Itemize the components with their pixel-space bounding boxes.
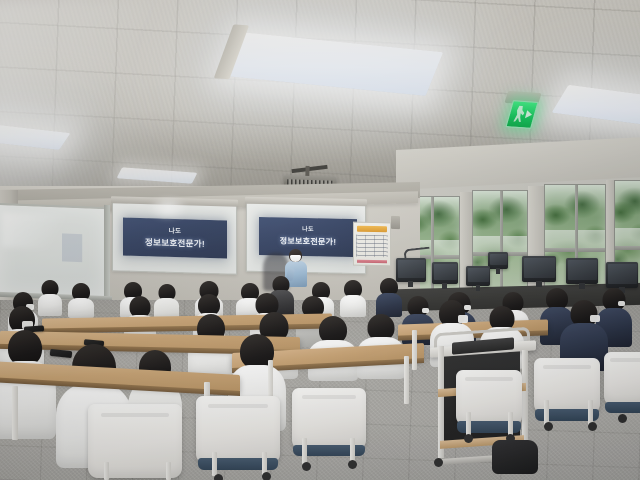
screen-roller-case [245,197,367,207]
monitor-stand [579,283,585,289]
computer-monitor [566,258,598,284]
whiteboard-writing [62,233,96,262]
caster-wheel [302,462,311,471]
caster-wheel [544,422,553,431]
face-mask-icon [458,315,468,323]
window-mullion [615,246,640,250]
backpack [492,440,538,474]
presentation-slide: 나도 정보보호전문가! [259,217,357,257]
computer-monitor [466,266,490,286]
chair-leg [302,438,307,464]
caster-wheel [262,472,271,480]
computer-monitor [432,262,458,284]
caster-wheel [214,474,223,480]
face-mask-icon [618,301,625,306]
table-leg [12,386,18,440]
presentation-slide: 나도 정보보호전문가! [123,218,227,259]
table-leg [404,356,409,404]
computer-monitor [606,262,638,288]
table-leg [412,330,417,370]
chair-back-slot [101,413,169,417]
caster-wheel [618,414,627,423]
wall-poster [353,222,391,267]
slide-line-1: 나도 [169,227,182,235]
caster-wheel [588,422,597,431]
monitor-stand [496,268,500,274]
projector-beam-highlight [148,196,188,220]
poster-table-rows [356,235,388,258]
poster-footer-band [357,260,387,264]
computer-monitor [488,252,508,269]
window-mullion [500,191,503,293]
monitor-stand [476,285,480,291]
chair-leg [104,462,109,480]
chair-leg [212,452,217,476]
window-frosted-band [615,228,640,246]
caster-wheel [434,458,443,467]
chair-back-slot [543,365,591,369]
face-mask-icon [590,315,600,322]
slide-line-2: 정보보호전문가! [280,236,337,247]
caster-wheel [464,434,473,443]
student [340,280,366,316]
chair-back-slot [302,395,355,399]
student-shirt [154,298,179,318]
student-shirt [68,298,94,318]
classroom-chair [196,396,280,464]
student [376,278,402,316]
chair-leg [166,462,171,480]
poster-header-banner [357,226,387,233]
whiteboard-frame [104,205,110,297]
chair-back-slot [208,404,269,408]
computer-monitor [522,256,556,282]
monitor-stand [442,283,447,289]
wall-speaker [391,216,400,229]
chair-seat [605,402,640,413]
classroom-chair [604,352,640,406]
slide-line-2: 정보보호전문가! [145,237,205,249]
caster-wheel [348,460,357,469]
monitor-stand [536,281,542,287]
student [154,284,179,316]
student [68,283,94,316]
chair-back-slot [465,377,513,381]
chair-back-slot [610,358,640,362]
monitor-stand [408,281,413,287]
slide-line-1: 나도 [302,227,314,235]
face-mask-icon [422,308,429,313]
classroom-photo: 나도 정보보호전문가! 나도 정보보호전문가! [0,0,640,480]
